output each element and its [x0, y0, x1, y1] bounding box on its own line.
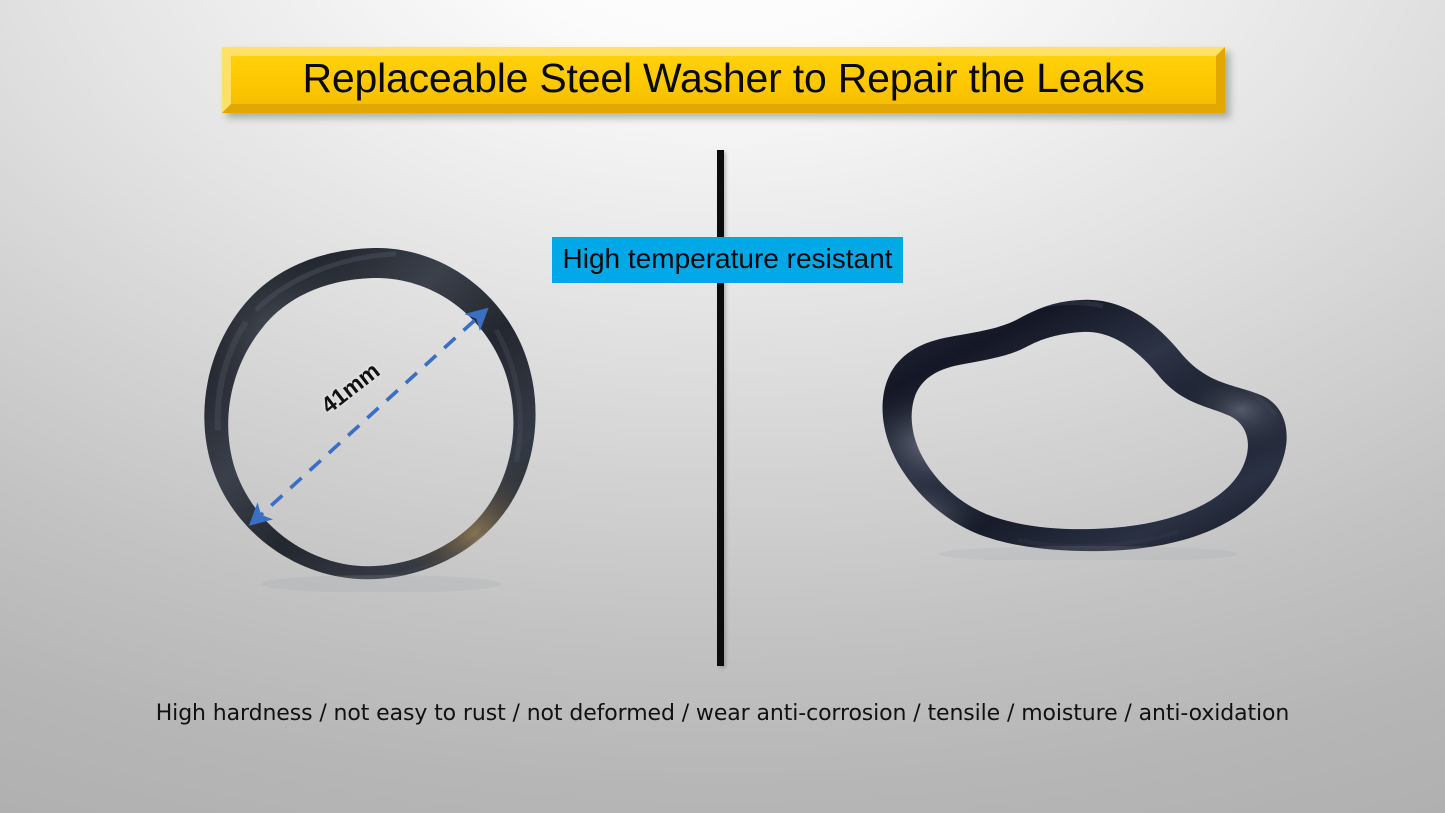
callout-label: High temperature resistant [563, 245, 893, 275]
vertical-divider [717, 150, 724, 666]
deformed-washer-image [868, 292, 1292, 560]
title-banner: Replaceable Steel Washer to Repair the L… [222, 47, 1225, 113]
features-list: High hardness / not easy to rust / not d… [0, 701, 1445, 726]
slide-canvas: Replaceable Steel Washer to Repair the L… [0, 0, 1445, 813]
page-title: Replaceable Steel Washer to Repair the L… [222, 47, 1225, 113]
round-washer-image [196, 240, 556, 592]
high-temperature-callout: High temperature resistant [552, 237, 903, 283]
